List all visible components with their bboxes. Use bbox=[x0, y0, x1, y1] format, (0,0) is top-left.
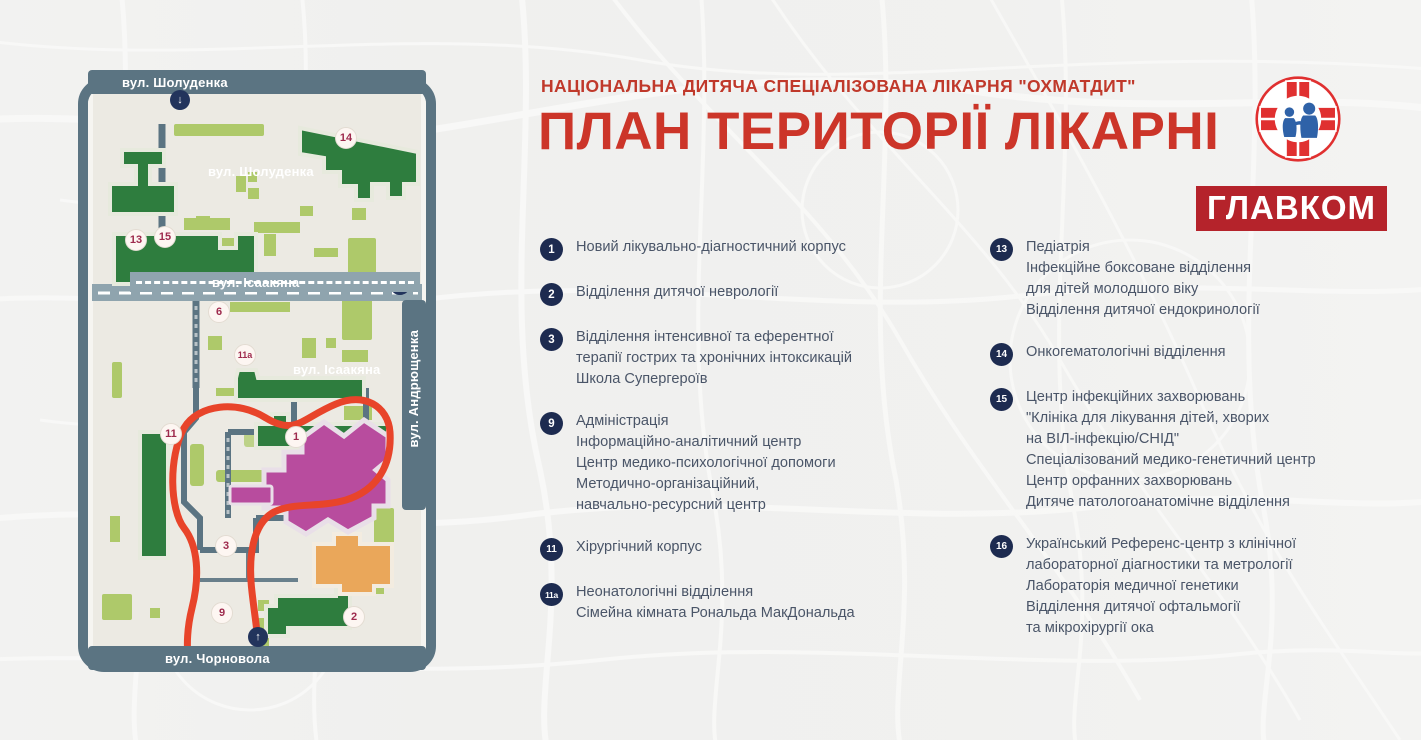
header-subtitle: НАЦІОНАЛЬНА ДИТЯЧА СПЕЦІАЛІЗОВАНА ЛІКАРН… bbox=[541, 76, 1136, 97]
map-marker-14[interactable]: 14 bbox=[335, 127, 357, 149]
legend-line: та мікрохірургії ока bbox=[1026, 618, 1296, 639]
map-marker-2[interactable]: 2 bbox=[343, 606, 365, 628]
hospital-emblem-icon bbox=[1255, 76, 1341, 162]
street-label-sholudenka: вул. Шолуденка bbox=[208, 164, 314, 179]
legend-line: Хірургічний корпус bbox=[576, 537, 702, 558]
legend-line: Дитяче патологоанатомічне відділення bbox=[1026, 492, 1316, 513]
legend-item-14[interactable]: 14 Онкогематологічні відділення bbox=[990, 342, 1410, 366]
legend-line: Центр медико-психологічної допомоги bbox=[576, 453, 836, 474]
legend-column-left: 1 Новий лікувально-діагностичний корпус … bbox=[540, 237, 960, 645]
legend-line: навчально-ресурсний центр bbox=[576, 495, 836, 516]
legend-column-right: 13 Педіатрія Інфекційне боксоване відділ… bbox=[990, 237, 1410, 660]
legend-text-2: Відділення дитячої неврології bbox=[576, 282, 778, 303]
legend-line: Спеціалізований медико-генетичний центр bbox=[1026, 450, 1316, 471]
hospital-territory-plan-infographic: вул. Шолуденка вул. Ісаакяна вул. Чорнов… bbox=[0, 0, 1421, 740]
legend-line: Відділення дитячої ендокринології bbox=[1026, 300, 1260, 321]
legend-badge-13: 13 bbox=[990, 238, 1013, 261]
legend-badge-1: 1 bbox=[540, 238, 563, 261]
glavkom-logo-before: ГЛАВК bbox=[1207, 189, 1321, 226]
map-marker-3[interactable]: 3 bbox=[215, 535, 237, 557]
legend-text-1: Новий лікувально-діагностичний корпус bbox=[576, 237, 846, 258]
map-marker-11[interactable]: 11 bbox=[160, 423, 182, 445]
legend-line: лабораторної діагностики та метрології bbox=[1026, 555, 1296, 576]
gate-north-icon[interactable]: ↓ bbox=[170, 90, 190, 110]
legend-badge-16: 16 bbox=[990, 535, 1013, 558]
legend-line: Школа Супергероїв bbox=[576, 369, 852, 390]
legend-badge-11: 11 bbox=[540, 538, 563, 561]
legend-line: Методично-організаційний, bbox=[576, 474, 836, 495]
legend-item-3[interactable]: 3 Відділення інтенсивної та еферентної т… bbox=[540, 327, 960, 390]
legend-text-15: Центр інфекційних захворювань "Клініка д… bbox=[1026, 387, 1316, 513]
map-marker-11a[interactable]: 11a bbox=[234, 344, 256, 366]
street-text-sholudenka: вул. Шолуденка bbox=[122, 75, 228, 90]
legend-line: на ВІЛ-інфекцію/СНІД" bbox=[1026, 429, 1316, 450]
legend-item-1[interactable]: 1 Новий лікувально-діагностичний корпус bbox=[540, 237, 960, 261]
legend-text-9: Адміністрація Інформаційно-аналітичний ц… bbox=[576, 411, 836, 516]
legend-badge-2: 2 bbox=[540, 283, 563, 306]
legend-text-16: Український Референс-центр з клінічної л… bbox=[1026, 534, 1296, 639]
legend-text-3: Відділення інтенсивної та еферентної тер… bbox=[576, 327, 852, 390]
legend-line: Онкогематологічні відділення bbox=[1026, 342, 1226, 363]
map-marker-15[interactable]: 15 bbox=[154, 226, 176, 248]
street-label-isaakyana: вул. Ісаакяна bbox=[293, 362, 380, 377]
legend-item-9[interactable]: 9 Адміністрація Інформаційно-аналітичний… bbox=[540, 411, 960, 516]
legend-line: Сімейна кімната Рональда МакДональда bbox=[576, 603, 855, 624]
map-marker-1[interactable]: 1 bbox=[285, 426, 307, 448]
legend-line: Відділення дитячої офтальмогії bbox=[1026, 597, 1296, 618]
glavkom-logo[interactable]: ГЛАВКОМ bbox=[1196, 186, 1387, 231]
legend-badge-15: 15 bbox=[990, 388, 1013, 411]
legend-item-11a[interactable]: 11а Неонатологічні відділення Сімейна кі… bbox=[540, 582, 960, 624]
legend-line: Інфекційне боксоване відділення bbox=[1026, 258, 1260, 279]
legend-item-13[interactable]: 13 Педіатрія Інфекційне боксоване відділ… bbox=[990, 237, 1410, 321]
legend-badge-9: 9 bbox=[540, 412, 563, 435]
legend-line: Інформаційно-аналітичний центр bbox=[576, 432, 836, 453]
map-marker-13[interactable]: 13 bbox=[125, 229, 147, 251]
legend-line: Український Референс-центр з клінічної bbox=[1026, 534, 1296, 555]
legend-badge-14: 14 bbox=[990, 343, 1013, 366]
legend-line: Відділення інтенсивної та еферентної bbox=[576, 327, 852, 348]
hospital-site-map[interactable]: вул. Шолуденка вул. Ісаакяна вул. Чорнов… bbox=[78, 78, 436, 672]
legend-line: Новий лікувально-діагностичний корпус bbox=[576, 237, 846, 258]
legend-line: Адміністрація bbox=[576, 411, 836, 432]
legend-text-14: Онкогематологічні відділення bbox=[1026, 342, 1226, 363]
legend-text-11a: Неонатологічні відділення Сімейна кімнат… bbox=[576, 582, 855, 624]
legend-line: Центр інфекційних захворювань bbox=[1026, 387, 1316, 408]
street-mid-dashes bbox=[136, 281, 414, 284]
legend-item-16[interactable]: 16 Український Референс-центр з клінічно… bbox=[990, 534, 1410, 639]
legend-line: Центр орфанних захворювань bbox=[1026, 471, 1316, 492]
legend-text-11: Хірургічний корпус bbox=[576, 537, 702, 558]
legend-badge-3: 3 bbox=[540, 328, 563, 351]
legend-line: Відділення дитячої неврології bbox=[576, 282, 778, 303]
glavkom-logo-dot-letter: О bbox=[1321, 191, 1348, 224]
street-text-andryushchenka: вул. Андрющенка bbox=[406, 330, 421, 448]
legend-text-13: Педіатрія Інфекційне боксоване відділенн… bbox=[1026, 237, 1260, 321]
legend-line: Неонатологічні відділення bbox=[576, 582, 855, 603]
gate-south-icon[interactable]: ↑ bbox=[248, 627, 268, 647]
street-text-chornovola: вул. Чорновола bbox=[165, 651, 270, 666]
legend-item-2[interactable]: 2 Відділення дитячої неврології bbox=[540, 282, 960, 306]
legend-line: Педіатрія bbox=[1026, 237, 1260, 258]
legend-item-11[interactable]: 11 Хірургічний корпус bbox=[540, 537, 960, 561]
map-marker-6[interactable]: 6 bbox=[208, 301, 230, 323]
legend-line: для дітей молодшого віку bbox=[1026, 279, 1260, 300]
legend-line: терапії гострих та хронічних інтоксикаці… bbox=[576, 348, 852, 369]
legend-badge-11a: 11а bbox=[540, 583, 563, 606]
legend-line: Лабораторія медичної генетики bbox=[1026, 576, 1296, 597]
map-marker-9[interactable]: 9 bbox=[211, 602, 233, 624]
glavkom-logo-after: М bbox=[1348, 189, 1377, 226]
map-canvas: вул. Шолуденка вул. Ісаакяна вул. Чорнов… bbox=[88, 88, 426, 662]
legend-line: "Клініка для лікування дітей, хворих bbox=[1026, 408, 1316, 429]
legend-item-15[interactable]: 15 Центр інфекційних захворювань "Клінік… bbox=[990, 387, 1410, 513]
page-title: ПЛАН ТЕРИТОРІЇ ЛІКАРНІ bbox=[538, 104, 1219, 160]
